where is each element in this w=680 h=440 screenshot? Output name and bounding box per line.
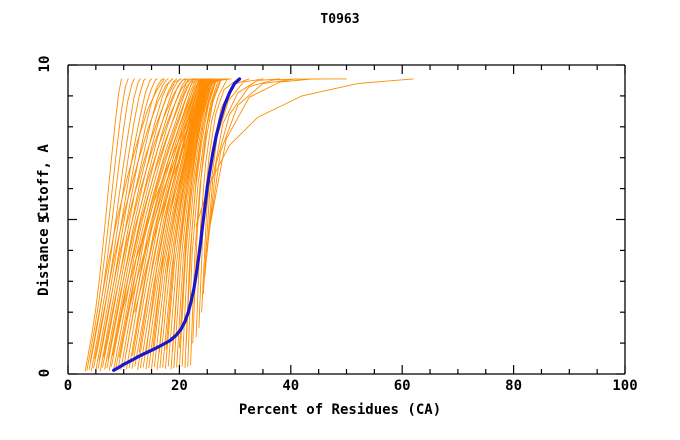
- y-tick-label: 10: [37, 49, 53, 79]
- model-curve: [95, 79, 173, 359]
- curves-layer: [85, 79, 413, 371]
- chart-figure: T0963 Percent of Residues (CA) Distance …: [0, 0, 680, 440]
- x-axis-label: Percent of Residues (CA): [0, 402, 680, 418]
- model-curve: [205, 79, 280, 275]
- y-tick-label: 5: [37, 204, 53, 234]
- x-tick-label: 20: [154, 378, 204, 394]
- plot-canvas: [0, 0, 680, 440]
- x-tick-label: 100: [600, 378, 650, 394]
- model-curve: [89, 79, 134, 369]
- x-tick-label: 80: [489, 378, 539, 394]
- x-tick-label: 40: [266, 378, 316, 394]
- model-curve: [211, 79, 347, 223]
- y-tick-label: 0: [37, 358, 53, 388]
- x-tick-label: 60: [377, 378, 427, 394]
